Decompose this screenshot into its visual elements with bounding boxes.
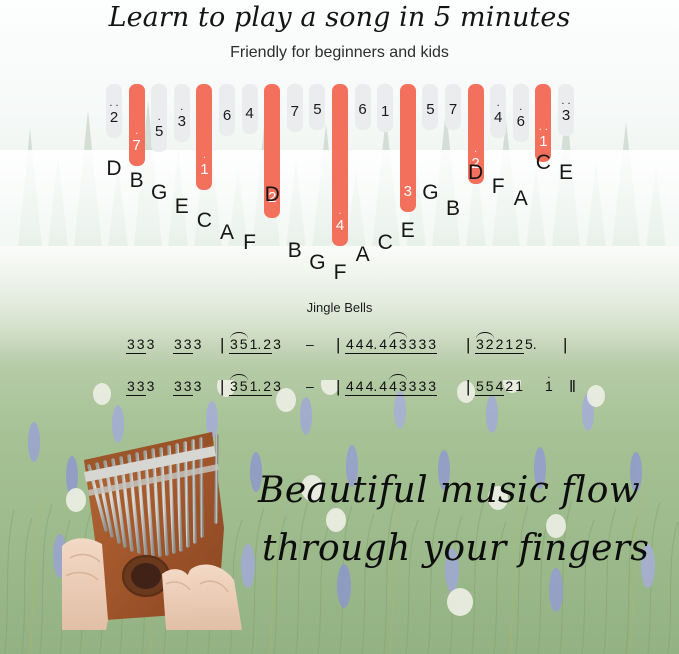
notation-line-1: 333333|351.23–|444.443333|322125.| [0,330,679,354]
notation-note-group: 1. [544,379,554,394]
notation-slur-pair: 32 [475,337,495,352]
tine-6-note-letter: A [215,222,239,243]
notation-note-group: 333 [173,379,202,394]
notation-note: 5 [475,379,485,394]
notation-line-2: 333333|351.23–|444.443333|554211.‖ [0,372,679,396]
notation-note: 3 [417,379,427,394]
notation-note: 3 [173,337,183,352]
tine-9-note-letter: B [283,240,307,261]
slur-arc [476,332,494,339]
notation-barline: | [563,337,567,352]
notation-barline-group: ‖ [569,379,576,394]
notation-note: 4 [345,379,355,394]
notation-note: 3 [229,379,239,394]
notation-slur-pair: 35 [229,379,249,394]
notation-note-group: 322125. [475,337,538,352]
notation-note: 1 [504,337,514,352]
notation-note: 3 [229,337,239,352]
notation-note: 4 [495,379,505,394]
tine-10-number: 5 [309,102,325,117]
notation-note-group: 333 [126,379,155,394]
slur-arc [389,332,407,339]
notation-barline-group: | [336,379,340,394]
tine-10-note-letter: G [305,252,329,273]
notation-barline: | [220,337,224,352]
tine-18-note-letter: F [486,176,510,197]
notation-slur-pair: 35 [229,337,249,352]
notation-note: 4 [378,337,388,352]
tine-4-octave-dots: . [174,105,190,111]
tine-19-note-letter: A [509,188,533,209]
notation-note: 3 [398,337,408,352]
tine-1-note-letter: D [102,158,126,179]
notation-note: 3 [193,379,203,394]
tine-19-octave-dots: . [513,105,529,111]
tine-8-note-letter: D [260,184,284,205]
notation-note: 5 [485,379,495,394]
tine-15-note-letter: G [418,182,442,203]
tine-14-note-letter: E [396,220,420,241]
notation-note: 3 [272,379,282,394]
tine-2-note-letter: B [125,170,149,191]
tine-15-number: 5 [422,102,438,117]
kalimba-tine-diagram: . .2D.7B.5G.3E.1C6A4F2D7B5G.4F6A1C3E5G7B… [0,0,679,300]
notation-note: 3 [146,379,156,394]
notation-note: 3 [272,337,282,352]
notation-note: 1. [249,379,263,394]
tine-9-number: 7 [287,104,303,119]
tine-17-note-letter: D [464,162,488,183]
notation-slur-pair: 43 [388,379,408,394]
notation-note: 2 [504,379,514,394]
tine-13-note-letter: C [373,232,397,253]
tine-11-number: 4 [332,218,348,233]
notation-note-group: 55421 [475,379,524,394]
notation-barline-group: | [220,379,224,394]
tine-5-number: 1 [196,162,212,177]
notation-note: 3 [136,337,146,352]
notation-barline: ‖ [569,379,576,394]
notation-note: 2 [262,337,272,352]
notation-barline-group: | [466,337,470,352]
notation-note-group: 351.23 [229,337,282,352]
notation-note: 3 [427,337,437,352]
notation-note: 4 [378,379,388,394]
notation-note: 2 [262,379,272,394]
notation-note: 3 [408,379,418,394]
notation-rest-group: – [306,379,314,394]
notation-note: 3 [417,337,427,352]
tine-19-number: 6 [513,114,529,129]
tine-2-octave-dots: . [129,129,145,135]
notation-note: 4. [365,379,379,394]
tine-5-octave-dots: . [196,153,212,159]
notation-note: 3 [475,337,485,352]
tine-1-octave-dots: . . [106,101,122,107]
notation-note-group: 351.23 [229,379,282,394]
tine-20-number: 1 [535,134,551,149]
notation-note: 3 [126,379,136,394]
slur-arc [230,374,248,381]
notation-barline-group: | [220,337,224,352]
tagline-line-1: Beautiful music flow [258,470,640,511]
tine-16-number: 7 [445,102,461,117]
notation-note: 5. [524,337,538,352]
kalimba-instrument-photo [62,424,262,630]
notation-note-group: 333 [126,337,155,352]
tine-21-number: 3 [558,108,574,123]
notation-slur-pair: 43 [388,337,408,352]
tine-20-octave-dots: . . [535,125,551,131]
notation-note: 3 [408,337,418,352]
tine-12-number: 6 [355,102,371,117]
tine-4-note-letter: E [170,196,194,217]
notation-note: 1. [544,379,554,394]
notation-barline: | [466,337,470,352]
notation-note-group: 444.443333 [345,379,437,394]
tine-6-number: 6 [219,108,235,123]
notation-barline: | [220,379,224,394]
notation-note: 3 [146,337,156,352]
tine-7-note-letter: F [238,232,262,253]
notation-note: 3 [136,379,146,394]
slur-arc [230,332,248,339]
notation-note: 1 [514,379,524,394]
notation-note: 3 [193,337,203,352]
notation-barline: | [466,379,470,394]
notation-note: 3 [126,337,136,352]
tine-21-note-letter: E [554,162,578,183]
tine-11-octave-dots: . [332,209,348,215]
notation-note: 5 [239,379,249,394]
promo-graphic: Learn to play a song in 5 minutes Friend… [0,0,679,654]
tine-7-number: 4 [242,106,258,121]
tine-3-number: 5 [151,124,167,139]
notation-barline-group: | [466,379,470,394]
notation-note: 4 [345,337,355,352]
notation-barline-group: | [336,337,340,352]
tine-3-octave-dots: . [151,115,167,121]
notation-note-group: 333 [173,337,202,352]
notation-barline-group: | [563,337,567,352]
notation-note: 2 [485,337,495,352]
tine-13-number: 1 [377,104,393,119]
tine-5-note-letter: C [192,210,216,231]
tine-18-number: 4 [490,110,506,125]
notation-note: 2 [514,337,524,352]
notation-note: 4 [388,379,398,394]
notation-note: 3 [183,337,193,352]
notation-rest: – [306,337,314,352]
tine-21-octave-dots: . . [558,99,574,105]
tine-20-note-letter: C [531,152,555,173]
notation-note: 4. [365,337,379,352]
tine-1-number: 2 [106,110,122,125]
notation-rest: – [306,379,314,394]
octave-dot: . [547,372,550,378]
notation-note: 4 [388,337,398,352]
notation-note: 5 [239,337,249,352]
song-title: Jingle Bells [0,300,679,315]
notation-note: 1. [249,337,263,352]
tine-4-number: 3 [174,114,190,129]
notation-note: 4 [355,379,365,394]
tagline-line-2: through your fingers [262,528,649,569]
tine-12-note-letter: A [351,244,375,265]
notation-note: 3 [183,379,193,394]
tine-11-note-letter: F [328,262,352,283]
notation-note: 3 [398,379,408,394]
tine-17-octave-dots: . [468,147,484,153]
notation-barline: | [336,379,340,394]
notation-barline: | [336,337,340,352]
tine-14-number: 3 [400,184,416,199]
notation-note: 4 [355,337,365,352]
notation-rest-group: – [306,337,314,352]
tine-16-note-letter: B [441,198,465,219]
notation-note: 3 [427,379,437,394]
tine-3-note-letter: G [147,182,171,203]
tine-18-octave-dots: . [490,101,506,107]
slur-arc [389,374,407,381]
notation-note: 2 [495,337,505,352]
notation-note-group: 444.443333 [345,337,437,352]
notation-note: 3 [173,379,183,394]
tine-2-number: 7 [129,138,145,153]
